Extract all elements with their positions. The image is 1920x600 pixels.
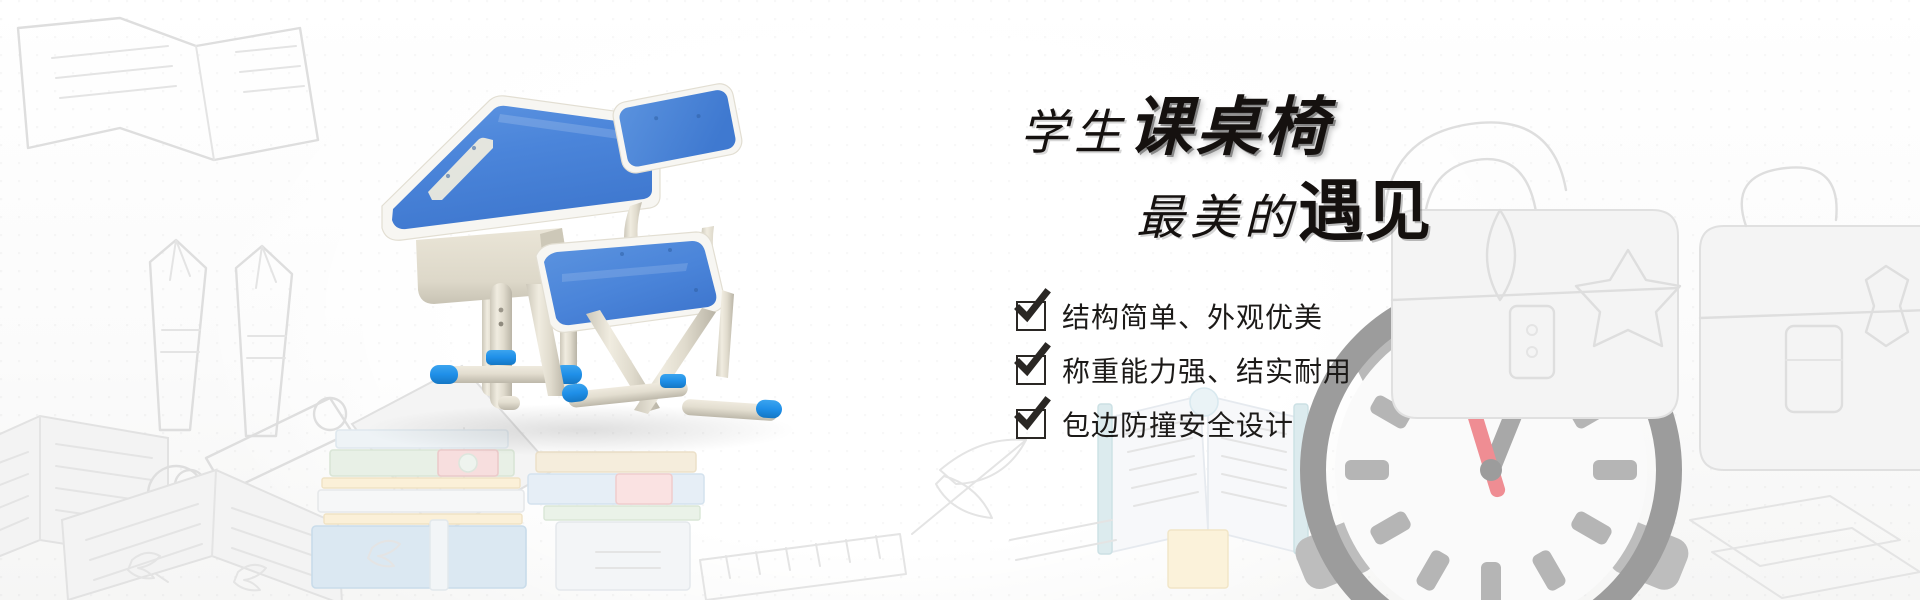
headline-line-1: 学生课桌椅 [1020,96,1568,160]
promo-banner: .ln{fill:none;stroke:#dedede;stroke-widt… [0,0,1920,600]
headline-emphasis: 遇见 [1298,176,1432,249]
feature-label: 包边防撞安全设计 [1062,404,1294,444]
product-image-student-desk-and-chair [330,78,850,458]
checkmark-icon [1016,355,1046,385]
headline-prefix: 学生 [1020,107,1128,160]
desk-foot-cap-left [430,365,458,384]
desk-height-clamp [486,350,516,365]
feature-item: 称重能力强、结实耐用 [1016,346,1536,394]
checkmark-icon [1016,301,1046,331]
feature-label: 称重能力强、结实耐用 [1062,350,1352,390]
banner-copy: 学生课桌椅 最美的遇见 结构简单、外观优美 称重能力强 [1008,96,1568,496]
desk-center-column [490,283,512,409]
background-texture [0,0,1920,600]
headline-subphrase: 最美的 [1136,192,1298,245]
feature-item: 包边防撞安全设计 [1016,400,1536,448]
headline-line-2: 最美的遇见 [1136,180,1568,246]
feature-item: 结构简单、外观优美 [1016,292,1536,340]
headline-product-name: 课桌椅 [1128,92,1332,163]
chair-height-clamp [660,374,686,388]
feature-label: 结构简单、外观优美 [1062,296,1323,336]
feature-list: 结构简单、外观优美 称重能力强、结实耐用 包边防撞安全设计 [1016,292,1536,454]
checkmark-icon [1016,409,1046,439]
